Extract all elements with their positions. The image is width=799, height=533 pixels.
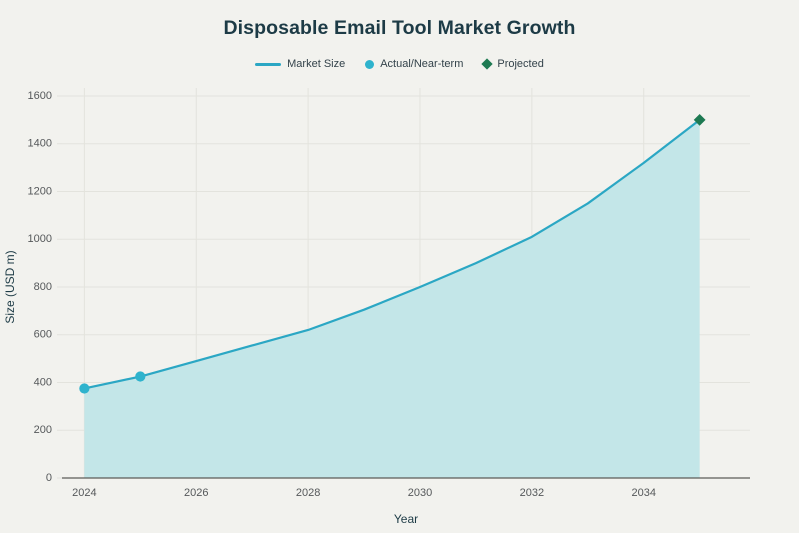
svg-text:2028: 2028 [296,487,320,499]
svg-text:2034: 2034 [631,487,655,499]
svg-text:2024: 2024 [72,487,96,499]
y-tick-labels: 02004006008001000120014001600 [28,90,52,484]
svg-text:600: 600 [34,329,52,341]
plot-area: 02004006008001000120014001600 2024202620… [0,0,799,533]
x-tick-labels: 202420262028203020322034 [72,487,656,499]
svg-text:400: 400 [34,376,52,388]
y-axis-title: Size (USD m) [3,250,17,323]
chart-container: Disposable Email Tool Market Growth Mark… [0,0,799,533]
svg-text:1200: 1200 [28,185,52,197]
svg-text:0: 0 [46,472,52,484]
svg-text:1600: 1600 [28,90,52,102]
x-axis-title: Year [394,512,418,526]
svg-text:2026: 2026 [184,487,208,499]
svg-text:1000: 1000 [28,233,52,245]
svg-text:800: 800 [34,281,52,293]
svg-text:2030: 2030 [408,487,432,499]
svg-text:200: 200 [34,424,52,436]
svg-text:2032: 2032 [520,487,544,499]
svg-text:1400: 1400 [28,138,52,150]
